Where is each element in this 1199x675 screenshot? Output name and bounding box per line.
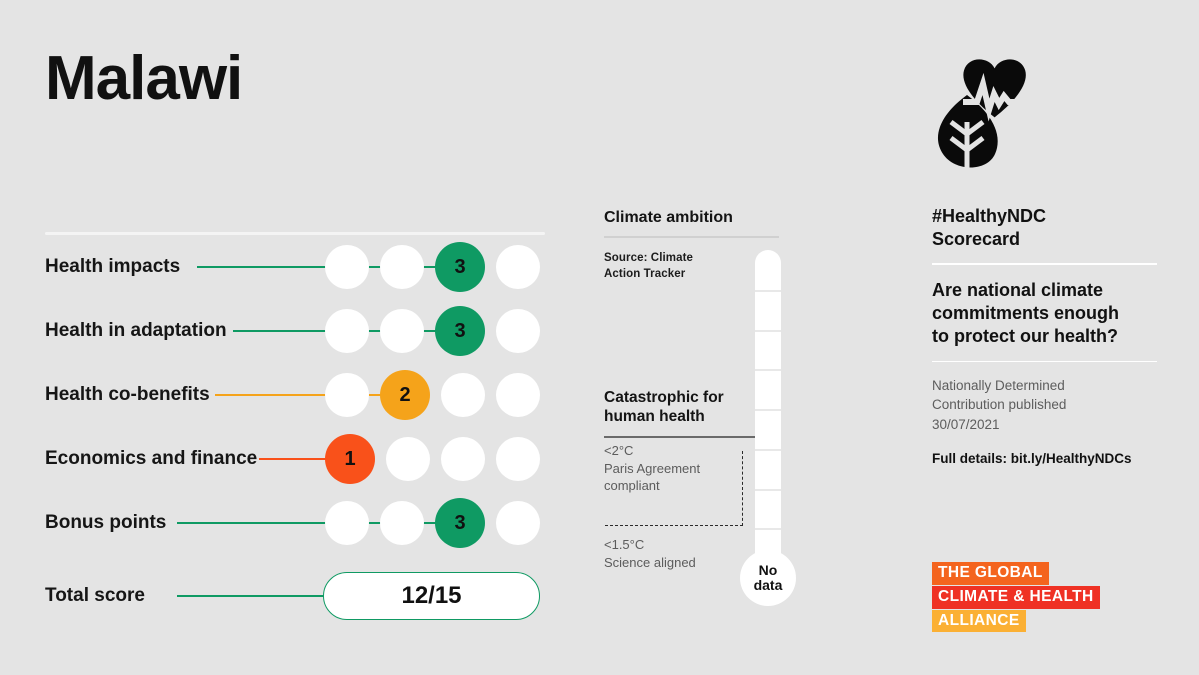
thermometer: Nodata [755,250,781,568]
info-panel: #HealthyNDCScorecard Are national climat… [932,205,1157,466]
brand-title: #HealthyNDCScorecard [932,205,1157,250]
scorecard-row-label: Bonus points [45,512,166,534]
scorecard-rows: Health impacts3Health in adaptation3Heal… [45,235,545,555]
scorecard-dots: 3 [325,498,540,548]
scorecard-empty-dot [325,501,369,545]
catastrophic-label: Catastrophic forhuman health [604,389,754,427]
scorecard-empty-dot [325,309,369,353]
thermometer-tick [755,330,781,332]
alliance-line-1: THE GLOBAL [932,562,1049,585]
scorecard-score-dot: 3 [435,498,485,548]
page-title: Malawi [45,48,242,110]
scorecard-empty-dot [496,309,540,353]
thermometer-tick [755,489,781,491]
scorecard-score-dot: 2 [380,370,430,420]
scorecard-row-label: Health co-benefits [45,384,210,406]
healthy-ndc-logo-icon [925,52,1041,170]
scorecard-dots: 3 [325,306,540,356]
total-score-row: Total score 12/15 [45,561,545,631]
science-aligned-bracket [605,451,743,526]
scorecard-row-label: Health in adaptation [45,320,227,342]
scorecard-row: Health co-benefits2 [45,363,545,427]
ndc-published-meta: Nationally DeterminedContribution publis… [932,376,1157,433]
scorecard-panel: Health impacts3Health in adaptation3Heal… [45,232,545,631]
info-divider-1 [932,263,1157,265]
climate-ambition-divider [604,236,779,238]
scorecard-row-label: Health impacts [45,256,180,278]
scorecard-row: Bonus points3 [45,491,545,555]
scorecard-empty-dot [325,373,369,417]
scorecard-empty-dot [386,437,430,481]
scorecard-row: Health in adaptation3 [45,299,545,363]
thermometer-tick [755,449,781,451]
total-connector-line [177,595,325,597]
scorecard-dots: 2 [325,370,540,420]
info-divider-2 [932,361,1157,363]
scorecard-score-dot: 3 [435,242,485,292]
scorecard-empty-dot [496,437,540,481]
scorecard-dots: 3 [325,242,540,292]
scorecard-empty-dot [441,373,485,417]
scorecard-row-label: Economics and finance [45,448,257,470]
thermometer-tick [755,528,781,530]
thermometer-tube [755,250,781,568]
alliance-line-3: ALLIANCE [932,610,1026,633]
scorecard-score-dot: 3 [435,306,485,356]
tagline-question: Are national climatecommitments enoughto… [932,279,1157,348]
total-score-label: Total score [45,585,145,607]
scorecard-empty-dot [496,373,540,417]
scorecard-empty-dot [496,245,540,289]
catastrophic-threshold-line [604,436,779,438]
full-details-link[interactable]: Full details: bit.ly/HealthyNDCs [932,451,1157,466]
total-score-pill: 12/15 [323,572,540,620]
scorecard-empty-dot [380,501,424,545]
scorecard-empty-dot [496,501,540,545]
alliance-wordmark: THE GLOBAL CLIMATE & HEALTH ALLIANCE [932,562,1132,633]
scorecard-score-dot: 1 [325,434,375,484]
scorecard-empty-dot [380,245,424,289]
scorecard-empty-dot [325,245,369,289]
scorecard-empty-dot [380,309,424,353]
climate-ambition-title: Climate ambition [604,208,782,227]
thermometer-bulb-no-data: Nodata [740,550,796,606]
thermometer-tick [755,409,781,411]
thermometer-tick [755,290,781,292]
scorecard-row: Health impacts3 [45,235,545,299]
thermometer-tick [755,369,781,371]
science-aligned-label: <1.5°CScience aligned [604,536,764,571]
scorecard-empty-dot [441,437,485,481]
scorecard-page: Malawi Health impacts3Health in adaptati… [0,0,1199,675]
alliance-line-2: CLIMATE & HEALTH [932,586,1100,609]
scorecard-dots: 1 [325,434,540,484]
scorecard-row: Economics and finance1 [45,427,545,491]
